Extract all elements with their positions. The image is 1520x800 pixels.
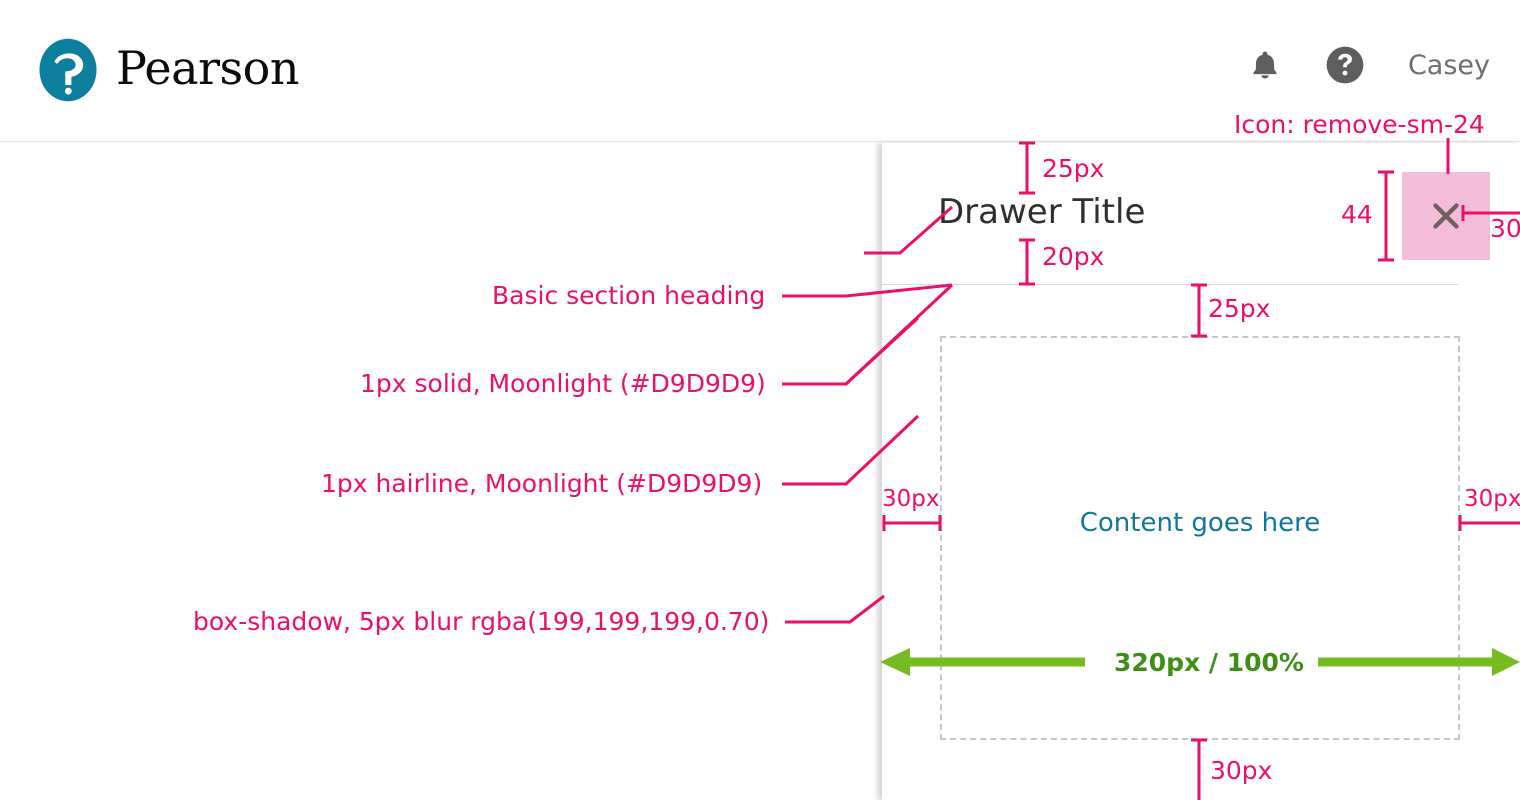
drawer-close-button[interactable] xyxy=(1402,172,1490,260)
remove-sm-24-icon xyxy=(1429,199,1463,233)
drawer-header-divider xyxy=(882,284,1458,285)
header-actions: Casey xyxy=(1248,44,1490,86)
pearson-logo-icon xyxy=(34,36,102,104)
help-circle-icon[interactable] xyxy=(1324,44,1366,86)
drawer-panel: Drawer Title Content goes here xyxy=(882,143,1520,800)
anno-border-solid: 1px solid, Moonlight (#D9D9D9) xyxy=(360,371,766,396)
anno-section-heading: Basic section heading xyxy=(492,283,765,308)
content-placeholder-label: Content goes here xyxy=(942,508,1458,538)
user-name-label[interactable]: Casey xyxy=(1408,52,1490,79)
app-header: Pearson Casey xyxy=(0,0,1520,142)
drawer-content-placeholder: Content goes here xyxy=(940,336,1460,740)
brand-lockup[interactable]: Pearson xyxy=(34,36,299,104)
drawer-title: Drawer Title xyxy=(938,195,1145,229)
anno-border-hairline: 1px hairline, Moonlight (#D9D9D9) xyxy=(321,471,762,496)
leader-box-shadow xyxy=(785,596,884,622)
anno-box-shadow: box-shadow, 5px blur rgba(199,199,199,0.… xyxy=(193,609,769,634)
brand-name: Pearson xyxy=(116,45,299,95)
bell-icon[interactable] xyxy=(1248,47,1282,83)
